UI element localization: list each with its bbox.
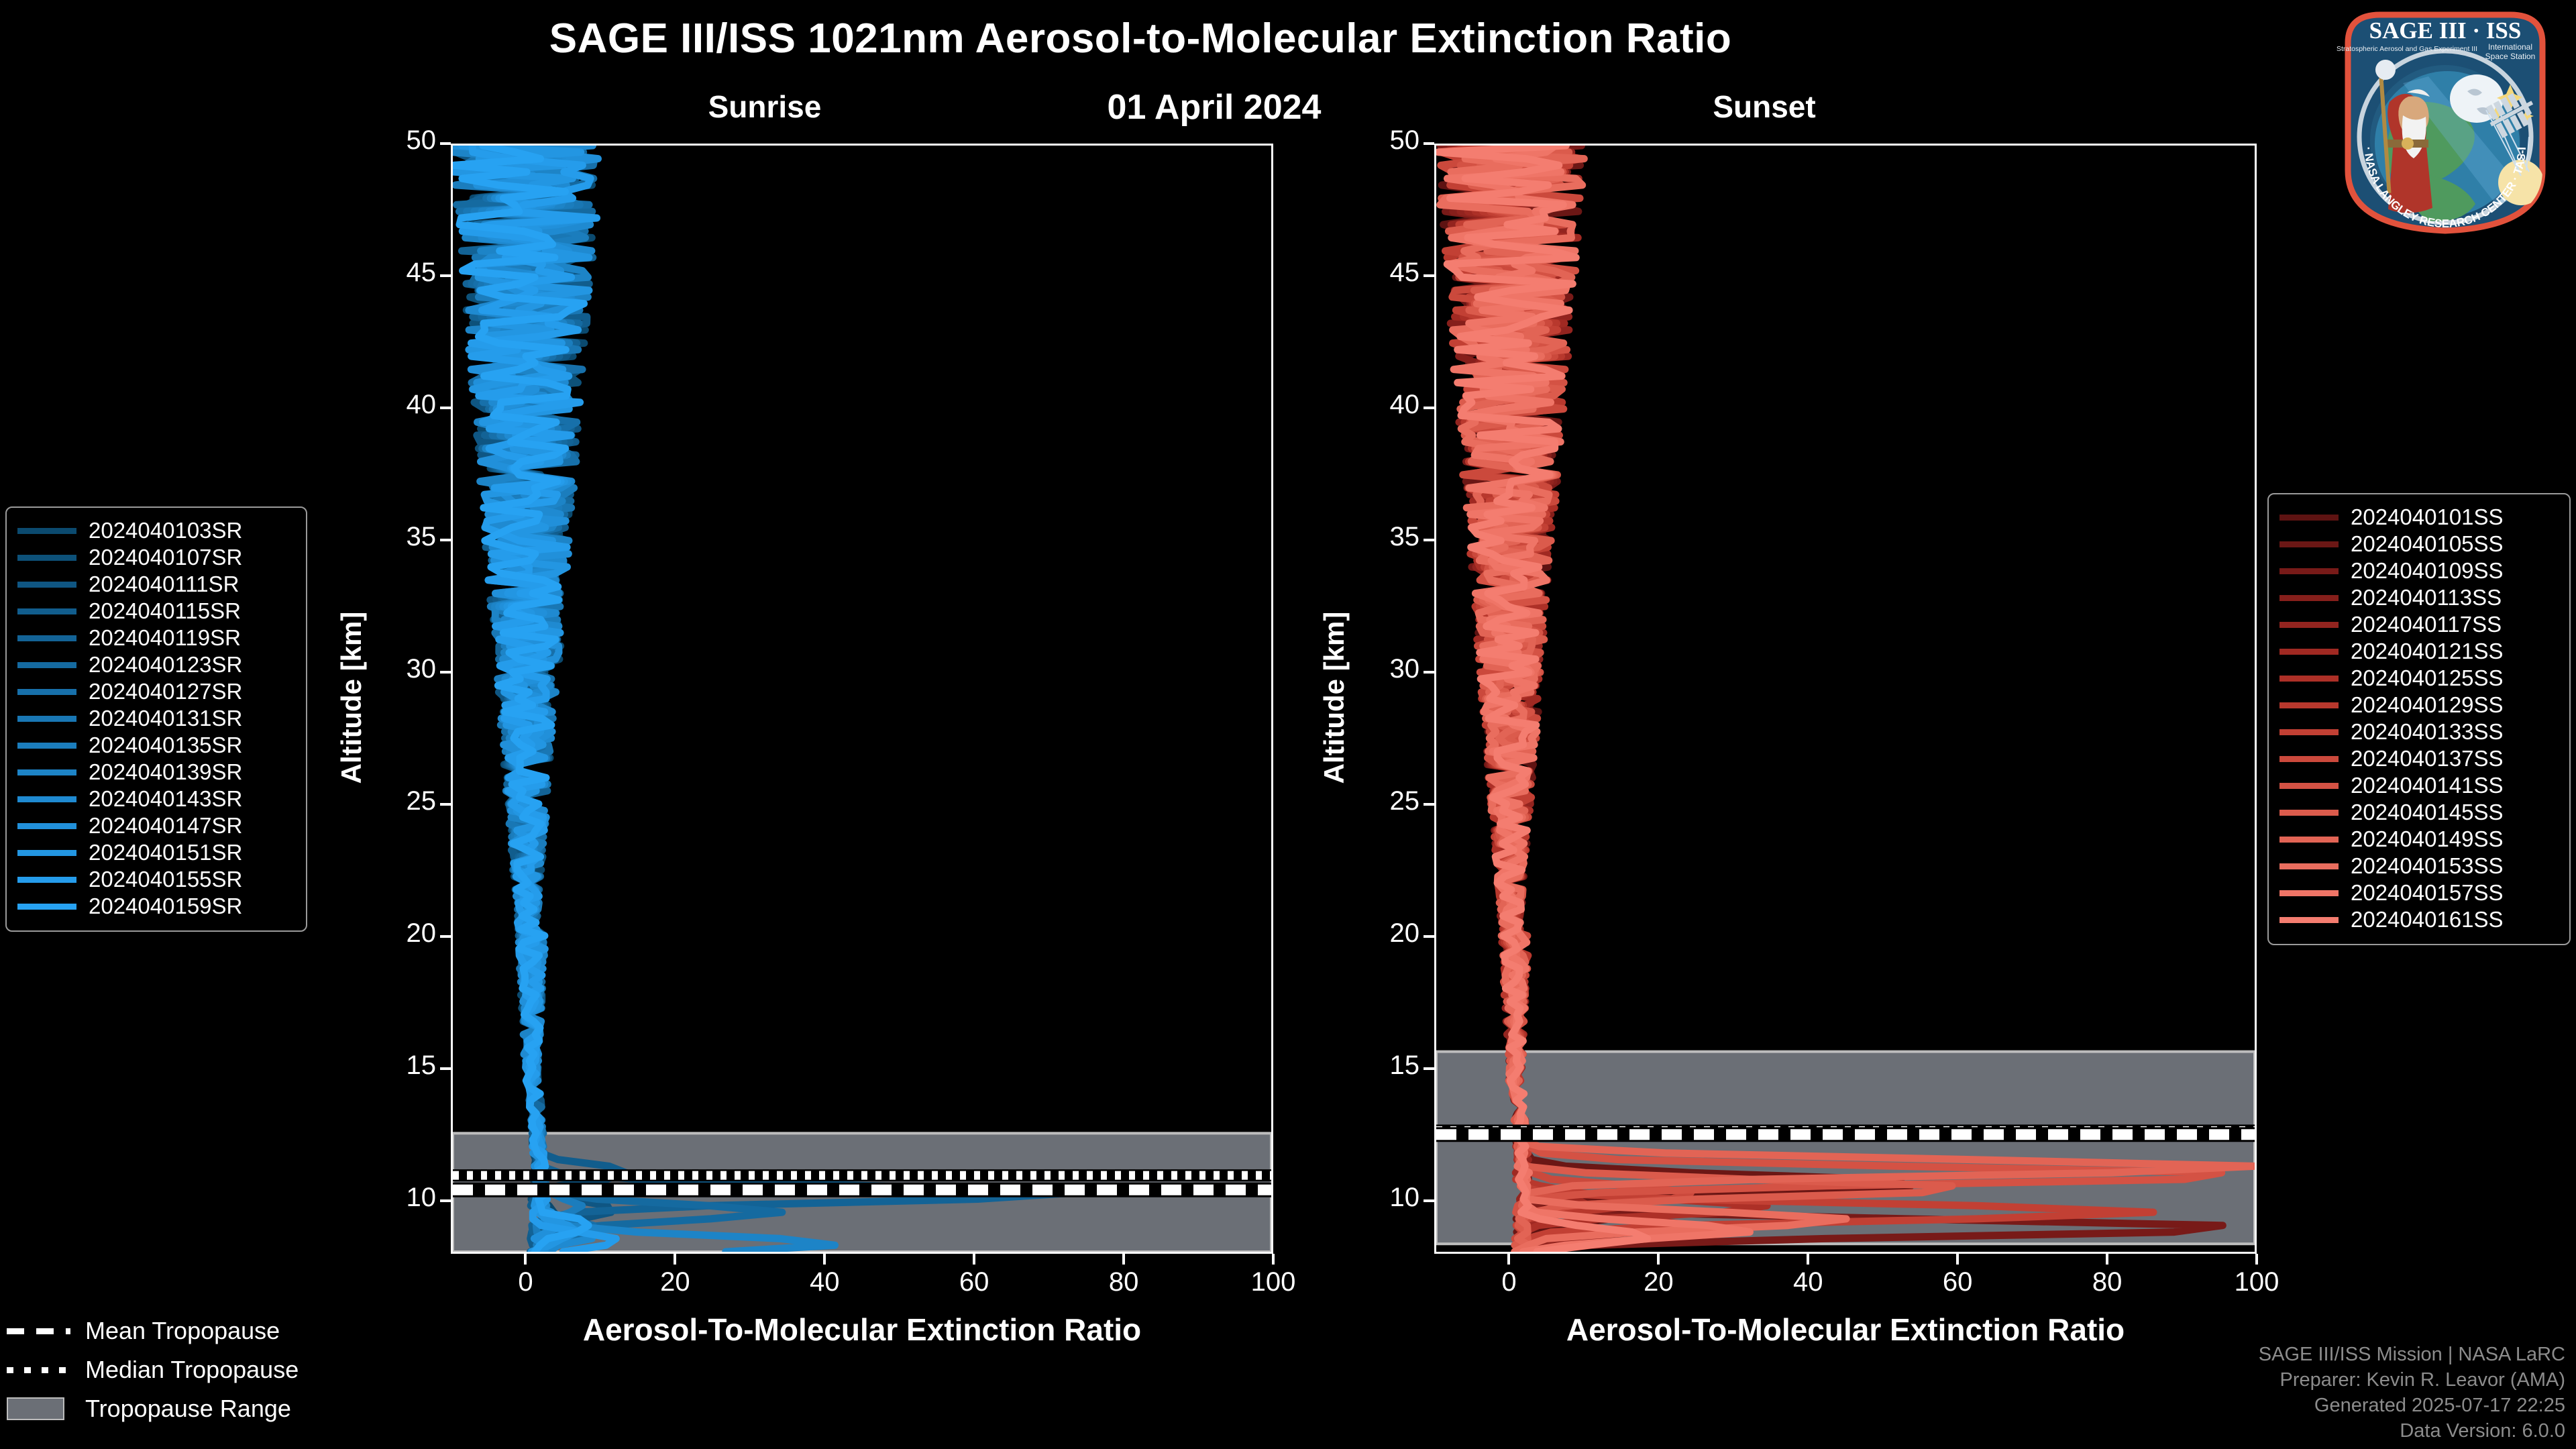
legend-item-2024040147SR[interactable]: 2024040147SR <box>17 812 295 839</box>
dashed-line-icon <box>7 1322 70 1340</box>
legend-label: 2024040151SR <box>89 840 242 865</box>
y-tick-mark <box>1424 935 1434 938</box>
legend-label: 2024040105SS <box>2351 531 2504 557</box>
legend-label: 2024040133SS <box>2351 719 2504 745</box>
x-tick-label-sunrise-100: 100 <box>1220 1267 1327 1297</box>
legend-label: 2024040131SR <box>89 706 242 731</box>
legend-color-swatch <box>2279 568 2339 574</box>
legend-item-2024040153SS[interactable]: 2024040153SS <box>2279 853 2559 879</box>
legend-item-2024040115SR[interactable]: 2024040115SR <box>17 598 295 625</box>
x-tick-mark <box>1956 1254 1959 1265</box>
range-swatch-icon <box>7 1400 70 1417</box>
legend-label: 2024040159SR <box>89 894 242 919</box>
legend-color-swatch <box>2279 622 2339 628</box>
x-tick-mark <box>524 1254 527 1265</box>
legend-label: 2024040157SS <box>2351 880 2504 906</box>
x-tick-label-sunset-40: 40 <box>1754 1267 1862 1297</box>
legend-label: 2024040113SS <box>2351 585 2502 610</box>
logo-title: SAGE III · ISS <box>2369 17 2522 44</box>
x-tick-label-sunrise-60: 60 <box>920 1267 1028 1297</box>
legend-label: 2024040127SR <box>89 679 242 704</box>
y-tick-mark <box>1424 274 1434 277</box>
y-tick-mark <box>1424 1067 1434 1070</box>
legend-color-swatch <box>17 743 76 749</box>
legend-item-2024040117SS[interactable]: 2024040117SS <box>2279 611 2559 638</box>
legend-item-2024040121SS[interactable]: 2024040121SS <box>2279 638 2559 665</box>
legend-label: 2024040103SR <box>89 518 242 543</box>
legend-label: 2024040149SS <box>2351 826 2504 852</box>
legend-label: 2024040121SS <box>2351 639 2504 664</box>
x-tick-label-sunset-100: 100 <box>2203 1267 2310 1297</box>
y-tick-mark <box>440 935 451 938</box>
legend-label: 2024040141SS <box>2351 773 2504 798</box>
x-tick-mark <box>823 1254 826 1265</box>
x-tick-label-sunrise-0: 0 <box>472 1267 579 1297</box>
legend-item-median-tropopause: Median Tropopause <box>7 1350 382 1389</box>
x-tick-mark <box>973 1254 975 1265</box>
legend-color-swatch <box>2279 863 2339 869</box>
legend-sunrise[interactable]: 2024040103SR2024040107SR2024040111SR2024… <box>5 506 307 932</box>
legend-item-2024040103SR[interactable]: 2024040103SR <box>17 517 295 544</box>
legend-label: 2024040153SS <box>2351 853 2504 879</box>
legend-color-swatch <box>2279 783 2339 789</box>
x-tick-label-sunset-60: 60 <box>1904 1267 2011 1297</box>
y-tick-label-sunset-30: 30 <box>1339 654 1419 684</box>
legend-item-2024040135SR[interactable]: 2024040135SR <box>17 732 295 759</box>
legend-item-2024040113SS[interactable]: 2024040113SS <box>2279 584 2559 611</box>
y-tick-label-sunrise-15: 15 <box>356 1051 436 1081</box>
logo-subtitle-right-line2: Space Station <box>2485 52 2536 61</box>
date-label: 01 April 2024 <box>1026 87 1402 127</box>
legend-label: 2024040161SS <box>2351 907 2504 932</box>
x-axis-label-sunrise: Aerosol-To-Molecular Extinction Ratio <box>451 1311 1273 1348</box>
legend-item-2024040149SS[interactable]: 2024040149SS <box>2279 826 2559 853</box>
sage-iii-iss-mission-patch-logo: SAGE III · ISS Stratospheric Aerosol and… <box>2328 3 2563 237</box>
page-title: SAGE III/ISS 1021nm Aerosol-to-Molecular… <box>0 15 2281 62</box>
legend-label: 2024040107SR <box>89 545 242 570</box>
x-tick-mark <box>674 1254 676 1265</box>
y-tick-label-sunrise-25: 25 <box>356 786 436 816</box>
dotted-line-icon <box>7 1361 70 1379</box>
sunrise-profile-plot <box>453 146 1271 1252</box>
y-tick-label-sunrise-50: 50 <box>356 125 436 156</box>
y-tick-label-sunset-40: 40 <box>1339 390 1419 420</box>
sunset-profile-plot <box>1436 146 2255 1252</box>
legend-color-swatch <box>17 716 76 722</box>
y-tick-mark <box>1424 671 1434 674</box>
sunset-panel-label: Sunset <box>1630 89 1898 125</box>
legend-item-2024040133SS[interactable]: 2024040133SS <box>2279 718 2559 745</box>
y-tick-label-sunset-45: 45 <box>1339 258 1419 288</box>
legend-item-2024040105SS[interactable]: 2024040105SS <box>2279 531 2559 557</box>
x-tick-label-sunrise-80: 80 <box>1070 1267 1177 1297</box>
legend-color-swatch <box>2279 810 2339 816</box>
y-tick-mark <box>440 407 451 409</box>
x-tick-label-sunrise-40: 40 <box>771 1267 878 1297</box>
legend-item-2024040111SR[interactable]: 2024040111SR <box>17 571 295 598</box>
legend-item-2024040123SR[interactable]: 2024040123SR <box>17 651 295 678</box>
legend-item-2024040101SS[interactable]: 2024040101SS <box>2279 504 2559 531</box>
y-tick-mark <box>440 803 451 806</box>
legend-color-swatch <box>17 823 76 829</box>
legend-color-swatch <box>17 555 76 561</box>
legend-item-2024040107SR[interactable]: 2024040107SR <box>17 544 295 571</box>
y-tick-label-sunrise-35: 35 <box>356 522 436 552</box>
plot-panel-sunrise <box>451 144 1273 1254</box>
legend-label: 2024040117SS <box>2351 612 2502 637</box>
x-tick-label-sunset-0: 0 <box>1455 1267 1562 1297</box>
legend-item-2024040157SS[interactable]: 2024040157SS <box>2279 879 2559 906</box>
x-tick-mark <box>1272 1254 1275 1265</box>
x-tick-mark <box>1807 1254 1809 1265</box>
legend-label: 2024040135SR <box>89 733 242 758</box>
legend-label: 2024040109SS <box>2351 558 2504 584</box>
legend-label-mean-tropopause: Mean Tropopause <box>85 1317 280 1345</box>
legend-label: 2024040101SS <box>2351 504 2504 530</box>
y-tick-mark <box>1424 407 1434 409</box>
legend-color-swatch <box>2279 702 2339 708</box>
legend-item-2024040127SR[interactable]: 2024040127SR <box>17 678 295 705</box>
legend-item-2024040131SR[interactable]: 2024040131SR <box>17 705 295 732</box>
y-tick-label-sunset-10: 10 <box>1339 1183 1419 1213</box>
y-tick-mark <box>1424 142 1434 145</box>
legend-color-swatch <box>2279 729 2339 735</box>
legend-label: 2024040143SR <box>89 786 242 812</box>
legend-item-2024040139SR[interactable]: 2024040139SR <box>17 759 295 786</box>
logo-subtitle-left: Stratospheric Aerosol and Gas Experiment… <box>2337 45 2477 53</box>
legend-color-swatch <box>17 662 76 668</box>
legend-label-tropopause-range: Tropopause Range <box>85 1395 291 1423</box>
y-tick-label-sunrise-20: 20 <box>356 918 436 949</box>
legend-label: 2024040111SR <box>89 572 239 597</box>
y-tick-mark <box>1424 1199 1434 1202</box>
legend-item-2024040161SS[interactable]: 2024040161SS <box>2279 906 2559 933</box>
legend-color-swatch <box>2279 890 2339 896</box>
y-tick-label-sunset-35: 35 <box>1339 522 1419 552</box>
x-tick-mark <box>1657 1254 1660 1265</box>
x-tick-mark <box>1122 1254 1125 1265</box>
legend-item-2024040155SR[interactable]: 2024040155SR <box>17 866 295 893</box>
legend-color-swatch <box>2279 649 2339 655</box>
x-tick-mark <box>1507 1254 1510 1265</box>
legend-color-swatch <box>2279 917 2339 923</box>
y-tick-mark <box>440 1067 451 1070</box>
legend-item-tropopause-range: Tropopause Range <box>7 1389 382 1428</box>
legend-color-swatch <box>17 850 76 856</box>
legend-label: 2024040115SR <box>89 598 241 624</box>
legend-item-2024040145SS[interactable]: 2024040145SS <box>2279 799 2559 826</box>
x-axis-label-sunset: Aerosol-To-Molecular Extinction Ratio <box>1434 1311 2257 1348</box>
legend-label: 2024040119SR <box>89 625 241 651</box>
credit-line-preparer: Preparer: Kevin R. Leavor (AMA) <box>2259 1367 2565 1393</box>
legend-color-swatch <box>17 689 76 695</box>
legend-item-2024040137SS[interactable]: 2024040137SS <box>2279 745 2559 772</box>
legend-item-2024040141SS[interactable]: 2024040141SS <box>2279 772 2559 799</box>
legend-color-swatch <box>2279 837 2339 843</box>
y-tick-label-sunrise-30: 30 <box>356 654 436 684</box>
legend-color-swatch <box>2279 676 2339 682</box>
legend-color-swatch <box>17 582 76 588</box>
legend-color-swatch <box>17 635 76 641</box>
legend-label-median-tropopause: Median Tropopause <box>85 1356 299 1384</box>
legend-item-2024040143SR[interactable]: 2024040143SR <box>17 786 295 812</box>
legend-sunset[interactable]: 2024040101SS2024040105SS2024040109SS2024… <box>2267 493 2571 945</box>
legend-label: 2024040123SR <box>89 652 242 678</box>
legend-color-swatch <box>17 608 76 614</box>
legend-tropopause: Mean Tropopause Median Tropopause Tropop… <box>7 1311 382 1428</box>
y-tick-mark <box>440 539 451 541</box>
credit-line-mission: SAGE III/ISS Mission | NASA LaRC <box>2259 1342 2565 1367</box>
legend-item-2024040129SS[interactable]: 2024040129SS <box>2279 692 2559 718</box>
legend-label: 2024040147SR <box>89 813 242 839</box>
legend-color-swatch <box>2279 756 2339 762</box>
y-tick-label-sunrise-45: 45 <box>356 258 436 288</box>
y-tick-label-sunrise-10: 10 <box>356 1183 436 1213</box>
legend-label: 2024040145SS <box>2351 800 2504 825</box>
legend-item-2024040151SR[interactable]: 2024040151SR <box>17 839 295 866</box>
legend-item-mean-tropopause: Mean Tropopause <box>7 1311 382 1350</box>
legend-color-swatch <box>2279 515 2339 521</box>
sunrise-panel-label: Sunrise <box>631 89 899 125</box>
y-tick-label-sunset-20: 20 <box>1339 918 1419 949</box>
legend-label: 2024040137SS <box>2351 746 2504 771</box>
y-tick-label-sunset-15: 15 <box>1339 1051 1419 1081</box>
credit-line-generated: Generated 2025-07-17 22:25 <box>2259 1393 2565 1418</box>
x-tick-mark <box>2106 1254 2108 1265</box>
x-tick-label-sunset-20: 20 <box>1605 1267 1712 1297</box>
legend-label: 2024040139SR <box>89 759 242 785</box>
y-tick-label-sunset-25: 25 <box>1339 786 1419 816</box>
legend-color-swatch <box>17 528 76 534</box>
y-tick-mark <box>440 274 451 277</box>
logo-subtitle-right-line1: International <box>2488 42 2532 52</box>
legend-color-swatch <box>2279 595 2339 601</box>
y-tick-mark <box>440 142 451 145</box>
legend-color-swatch <box>17 904 76 910</box>
x-tick-label-sunset-80: 80 <box>2053 1267 2161 1297</box>
y-tick-mark <box>440 671 451 674</box>
legend-item-2024040125SS[interactable]: 2024040125SS <box>2279 665 2559 692</box>
y-tick-label-sunrise-40: 40 <box>356 390 436 420</box>
x-tick-mark <box>2255 1254 2258 1265</box>
x-tick-label-sunrise-20: 20 <box>621 1267 729 1297</box>
legend-color-swatch <box>17 877 76 883</box>
legend-color-swatch <box>17 796 76 802</box>
legend-color-swatch <box>17 769 76 775</box>
legend-label: 2024040155SR <box>89 867 242 892</box>
plot-panel-sunset <box>1434 144 2257 1254</box>
y-tick-mark <box>1424 539 1434 541</box>
credits-block: SAGE III/ISS Mission | NASA LaRC Prepare… <box>2259 1342 2565 1444</box>
y-tick-mark <box>1424 803 1434 806</box>
legend-label: 2024040129SS <box>2351 692 2504 718</box>
legend-label: 2024040125SS <box>2351 665 2504 691</box>
legend-item-2024040159SR[interactable]: 2024040159SR <box>17 893 295 920</box>
legend-color-swatch <box>2279 541 2339 547</box>
y-tick-mark <box>440 1199 451 1202</box>
legend-item-2024040119SR[interactable]: 2024040119SR <box>17 625 295 651</box>
legend-item-2024040109SS[interactable]: 2024040109SS <box>2279 557 2559 584</box>
y-tick-label-sunset-50: 50 <box>1339 125 1419 156</box>
credit-line-version: Data Version: 6.0.0 <box>2259 1418 2565 1444</box>
